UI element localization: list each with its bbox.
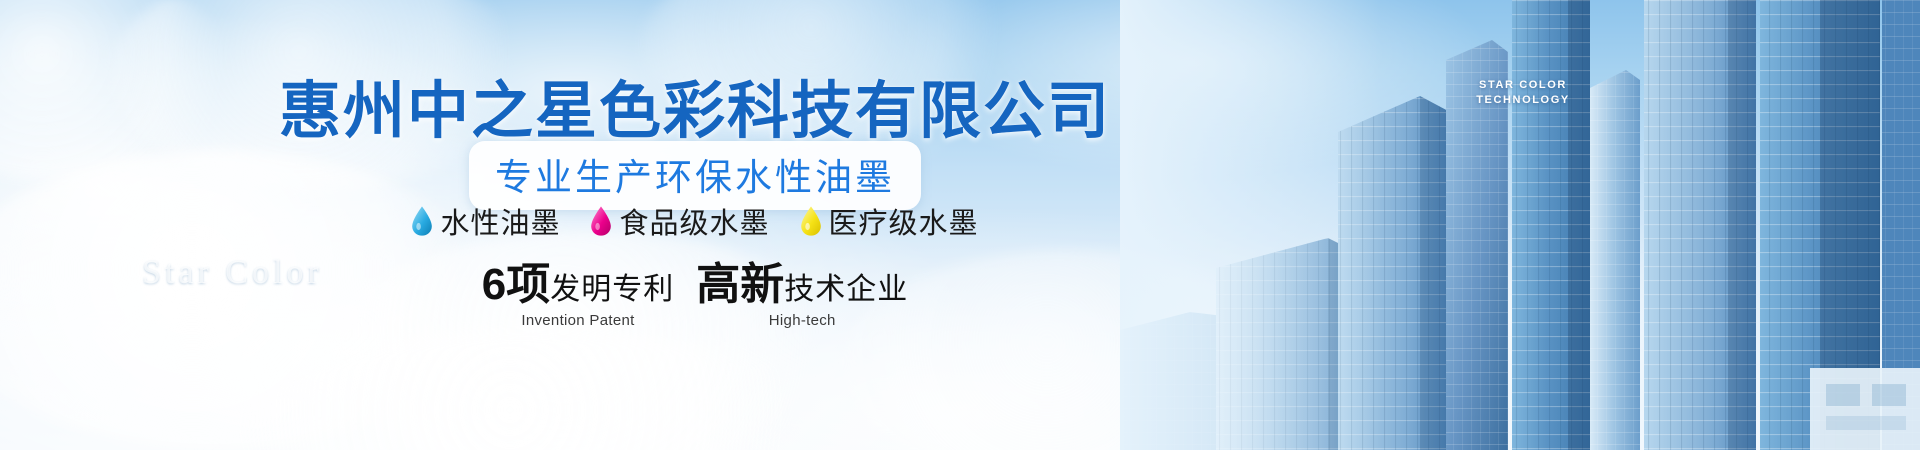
water-drop-icon	[800, 206, 822, 236]
achievement-badges: 6项发明专利 Invention Patent 高新技术企业 High-tech	[0, 262, 1390, 329]
badge-chinese-text: 高新技术企业	[696, 262, 908, 308]
feature-item: 水性油墨	[411, 200, 560, 242]
water-drop-icon	[590, 206, 612, 236]
feature-label: 医疗级水墨	[829, 200, 979, 242]
badge-english-text: Invention Patent	[482, 312, 674, 329]
water-drop-icon	[411, 206, 433, 236]
badge-invention-patent: 6项发明专利 Invention Patent	[482, 262, 674, 329]
company-title: 惠州中之星色彩科技有限公司	[0, 60, 1390, 150]
banner-content: 惠州中之星色彩科技有限公司 专业生产环保水性油墨 水性油	[0, 0, 1390, 450]
company-banner: Star Color	[0, 0, 1920, 450]
feature-item: 医疗级水墨	[800, 200, 979, 242]
feature-label: 水性油墨	[440, 200, 560, 242]
badge-english-text: High-tech	[696, 312, 908, 329]
badge-suffix: 发明专利	[550, 273, 674, 306]
feature-item: 食品级水墨	[590, 200, 769, 242]
badge-chinese-text: 6项发明专利	[482, 262, 674, 308]
logo-label-line2: TECHNOLOGY	[1468, 93, 1578, 108]
logo-label-line1: STAR COLOR	[1468, 78, 1578, 93]
badge-highlight: 高新	[696, 260, 784, 309]
badge-suffix: 技术企业	[784, 273, 908, 306]
badge-highlight: 6项	[482, 260, 550, 309]
badge-high-tech: 高新技术企业 High-tech	[696, 262, 908, 329]
feature-label: 食品级水墨	[619, 200, 769, 242]
feature-list: 水性油墨 食品级水墨	[0, 200, 1390, 242]
logo-technology-label: STAR COLOR TECHNOLOGY	[1468, 78, 1578, 108]
